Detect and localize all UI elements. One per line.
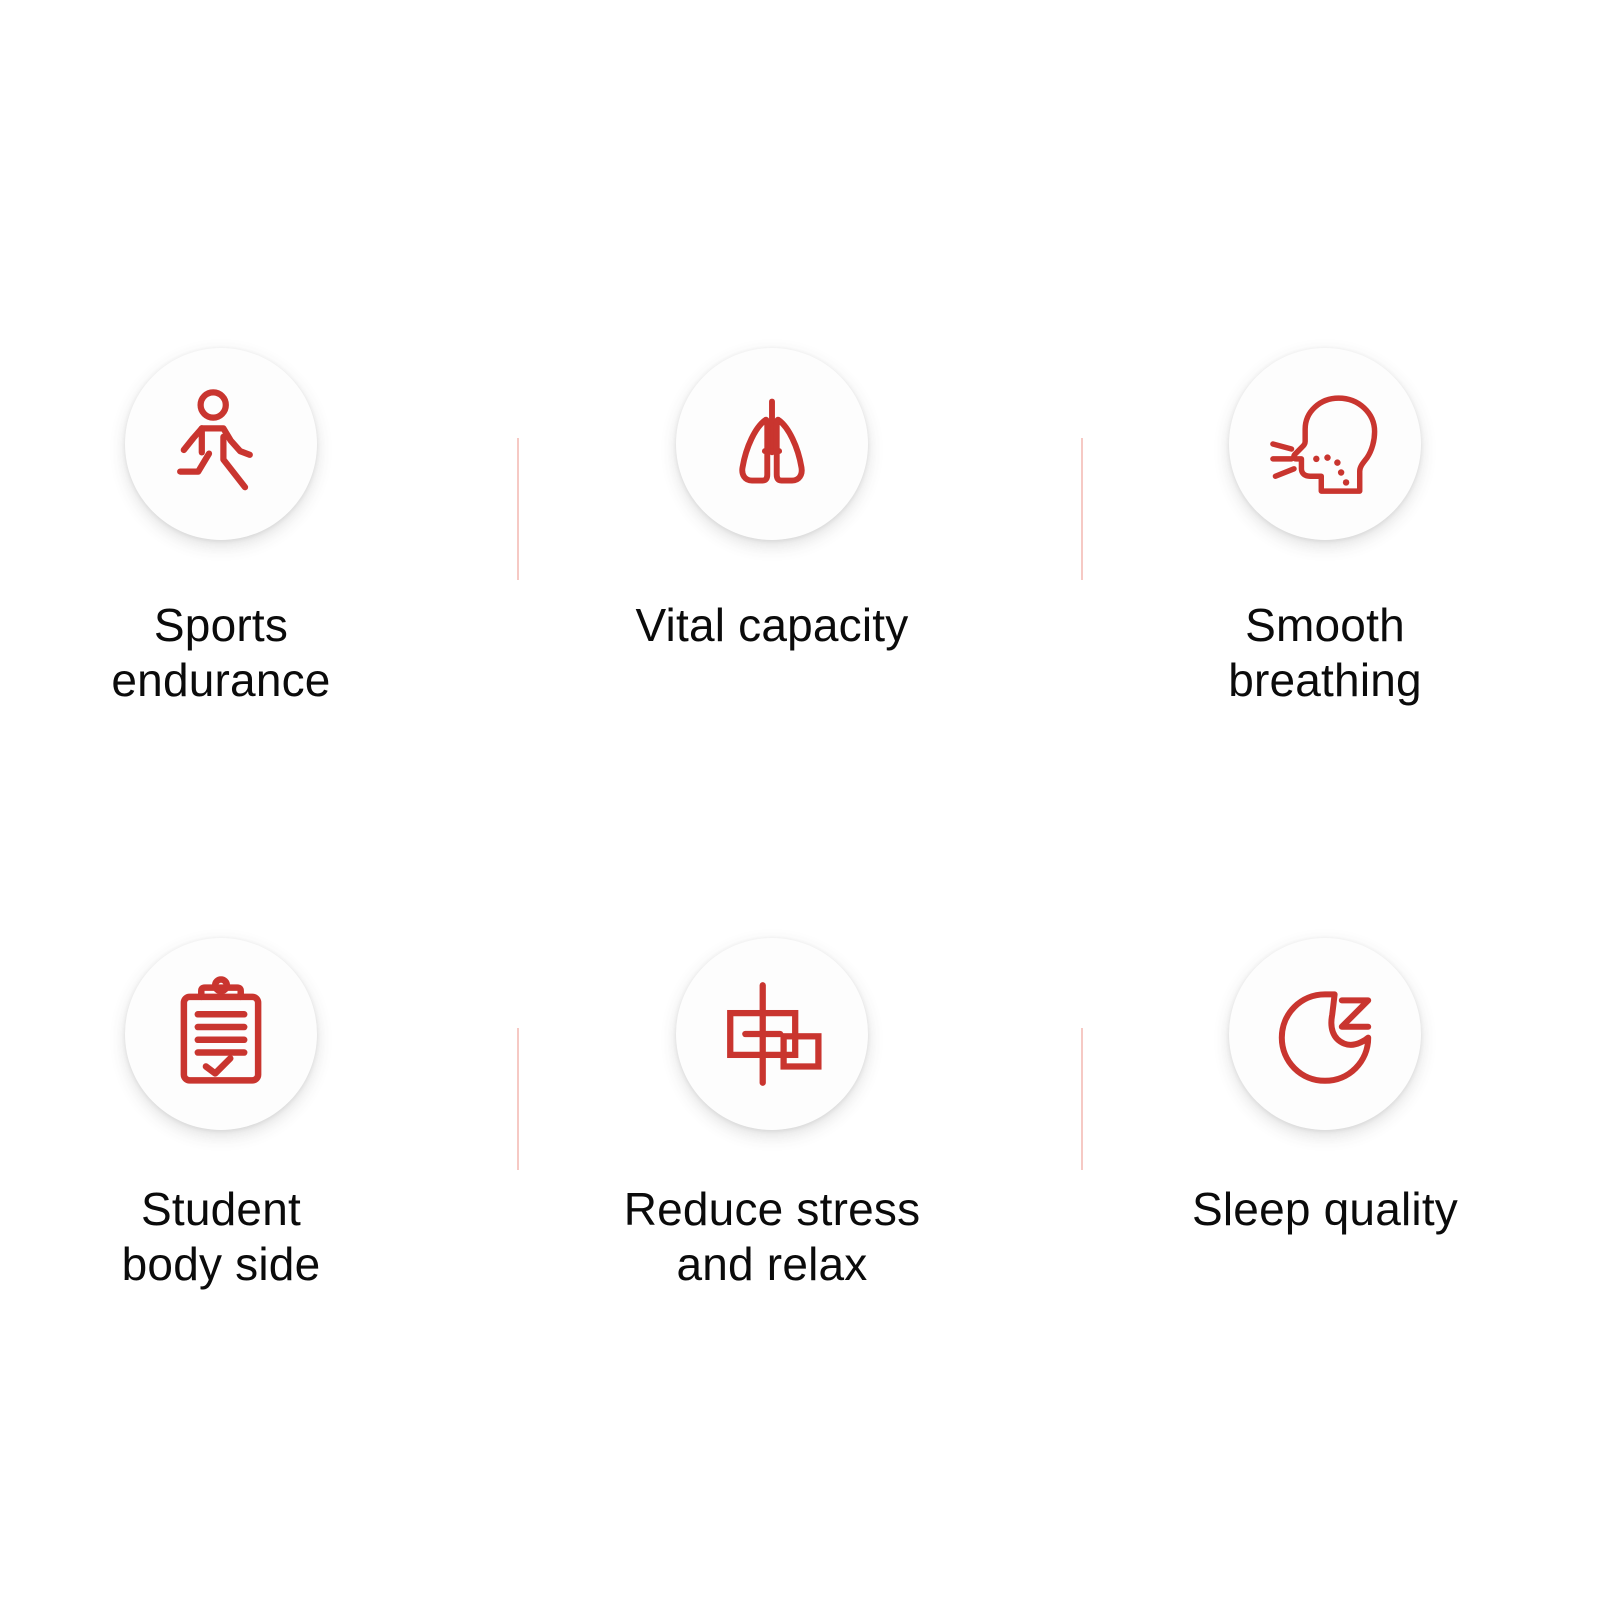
divider-row1-left <box>517 438 519 580</box>
icon-badge-vital-capacity[interactable] <box>676 348 868 540</box>
clipboard-checklist-icon <box>163 976 279 1092</box>
icon-badge-sports-endurance[interactable] <box>125 348 317 540</box>
feature-label-student-body-side: Student body side <box>122 1182 321 1291</box>
feature-item-smooth-breathing[interactable]: Smooth breathing <box>1115 348 1535 707</box>
icon-badge-smooth-breathing[interactable] <box>1229 348 1421 540</box>
icon-badge-reduce-stress-and-relax[interactable] <box>676 938 868 1130</box>
feature-grid-board: Sports endurance Vital capacity <box>0 0 1600 1600</box>
divider-row2-left <box>517 1028 519 1170</box>
feature-item-sports-endurance[interactable]: Sports endurance <box>11 348 431 707</box>
feature-label-reduce-stress-and-relax: Reduce stress and relax <box>624 1182 921 1291</box>
feature-label-sports-endurance: Sports endurance <box>111 598 330 707</box>
divider-row1-right <box>1081 438 1083 580</box>
feature-label-sleep-quality: Sleep quality <box>1192 1182 1458 1237</box>
feature-label-smooth-breathing: Smooth breathing <box>1228 598 1422 707</box>
feature-item-vital-capacity[interactable]: Vital capacity <box>562 348 982 653</box>
feature-grid: Sports endurance Vital capacity <box>0 0 1600 1600</box>
icon-badge-sleep-quality[interactable] <box>1229 938 1421 1130</box>
feature-item-student-body-side[interactable]: Student body side <box>11 938 431 1291</box>
divider-row2-right <box>1081 1028 1083 1170</box>
stress-relief-icon <box>714 976 830 1092</box>
feature-item-sleep-quality[interactable]: Sleep quality <box>1115 938 1535 1237</box>
icon-badge-student-body-side[interactable] <box>125 938 317 1130</box>
lungs-icon <box>713 385 831 503</box>
head-breathing-icon <box>1263 382 1387 506</box>
walking-person-icon <box>161 384 281 504</box>
feature-item-reduce-stress-and-relax[interactable]: Reduce stress and relax <box>562 938 982 1291</box>
feature-label-vital-capacity: Vital capacity <box>636 598 909 653</box>
moon-zzz-icon <box>1265 974 1385 1094</box>
